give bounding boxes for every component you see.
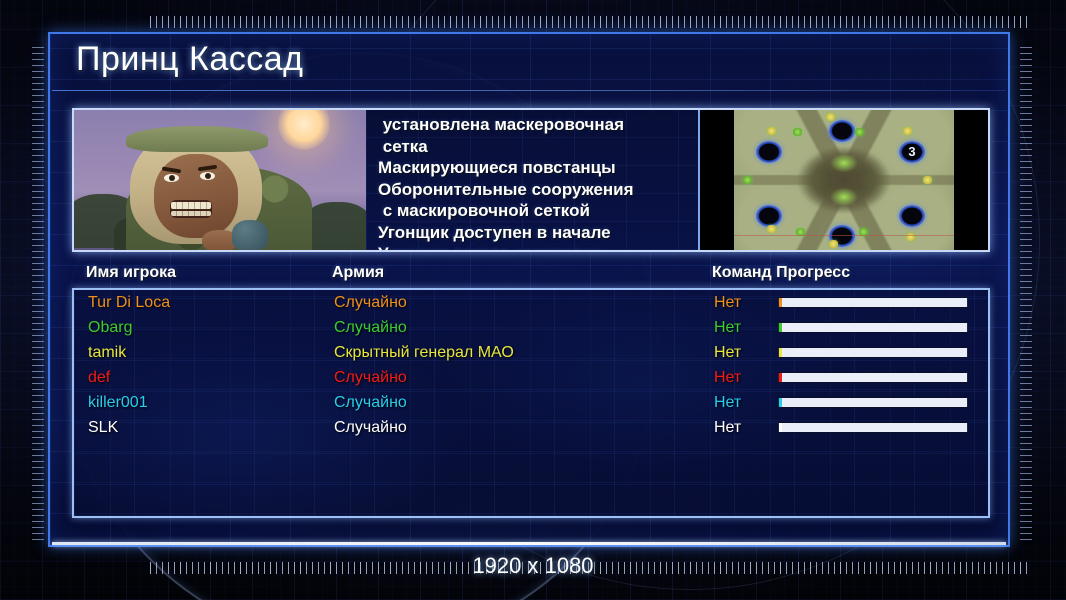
map-start-label: 3 xyxy=(908,144,915,159)
player-name: def xyxy=(88,369,110,387)
map-resource-dot xyxy=(855,128,864,136)
player-progress-bar xyxy=(778,322,968,333)
player-army[interactable]: Скрытный генерал МАО xyxy=(334,344,514,362)
player-team[interactable]: Нет xyxy=(714,344,741,362)
map-resource-dot xyxy=(826,113,835,121)
map-start-position: 3 xyxy=(899,141,925,163)
description-line: установлена маскеровочная xyxy=(378,114,692,136)
player-name: tamik xyxy=(88,344,126,362)
description-line: Оборонительные сооружения xyxy=(378,179,692,201)
portrait-eye xyxy=(164,174,179,182)
player-name: Tur Di Loca xyxy=(88,294,170,312)
player-team[interactable]: Нет xyxy=(714,369,741,387)
map-scanline xyxy=(734,235,954,236)
resolution-label: 1920 x 1080 xyxy=(0,553,1066,579)
map-resource-dot xyxy=(767,225,776,233)
map-resource-dot xyxy=(903,127,912,135)
map-terrain: 3 xyxy=(734,110,954,250)
player-table-header: Имя игрока Армия Команд Прогресс xyxy=(80,264,980,286)
player-team[interactable]: Нет xyxy=(714,319,741,337)
map-resource-dot xyxy=(829,240,838,248)
ruler-left xyxy=(32,42,44,540)
portrait-headband xyxy=(126,126,268,152)
description-line: сетка xyxy=(378,136,692,158)
general-portrait xyxy=(74,110,366,250)
portrait-eye xyxy=(200,172,215,180)
player-army[interactable]: Случайно xyxy=(334,294,407,312)
column-header-team-progress: Команд Прогресс xyxy=(712,264,850,282)
column-header-army: Армия xyxy=(332,264,384,282)
player-name: Obarg xyxy=(88,319,132,337)
player-army[interactable]: Случайно xyxy=(334,419,407,437)
description-line: Маскирующиеся повстанцы xyxy=(378,157,692,179)
player-progress-bar xyxy=(778,372,968,383)
player-army[interactable]: Случайно xyxy=(334,369,407,387)
portrait-canteen xyxy=(232,220,268,250)
player-team[interactable]: Нет xyxy=(714,394,741,412)
table-row[interactable]: Tur Di LocaСлучайноНет xyxy=(74,290,988,315)
player-team[interactable]: Нет xyxy=(714,294,741,312)
player-army[interactable]: Случайно xyxy=(334,394,407,412)
general-description: установлена маскеровочная сетка Маскирую… xyxy=(366,110,698,250)
map-resource-dot xyxy=(767,127,776,135)
portrait-mouth xyxy=(170,200,212,218)
title-divider xyxy=(52,90,1006,91)
player-progress-bar xyxy=(778,297,968,308)
player-name: SLK xyxy=(88,419,118,437)
player-progress-bar xyxy=(778,347,968,358)
table-row[interactable]: SLKСлучайноНет xyxy=(74,415,988,440)
player-progress-bar xyxy=(778,422,968,433)
column-header-name: Имя игрока xyxy=(86,264,176,282)
map-start-position xyxy=(829,120,855,142)
portrait-teeth xyxy=(171,211,211,216)
player-army[interactable]: Случайно xyxy=(334,319,407,337)
map-start-position xyxy=(756,141,782,163)
table-row[interactable]: ObargСлучайноНет xyxy=(74,315,988,340)
description-line: Угонщик всегда незаметен xyxy=(378,243,692,250)
map-resource-dot xyxy=(923,176,932,184)
general-info-box: установлена маскеровочная сетка Маскирую… xyxy=(72,108,990,252)
map-resource-dot xyxy=(743,176,752,184)
description-line: Угонщик доступен в начале xyxy=(378,222,692,244)
map-preview[interactable]: 3 xyxy=(698,110,988,250)
general-select-panel: Принц Кассад xyxy=(48,32,1010,547)
table-row[interactable]: defСлучайноНет xyxy=(74,365,988,390)
player-name: killer001 xyxy=(88,394,148,412)
player-list: Tur Di LocaСлучайноНетObargСлучайноНетta… xyxy=(72,288,990,518)
player-team[interactable]: Нет xyxy=(714,419,741,437)
map-center-resources xyxy=(823,155,865,205)
page-title: Принц Кассад xyxy=(76,40,304,79)
portrait-teeth xyxy=(171,202,211,209)
description-list: установлена маскеровочная сетка Маскирую… xyxy=(378,114,692,250)
player-progress-bar xyxy=(778,397,968,408)
player-rows: Tur Di LocaСлучайноНетObargСлучайноНетta… xyxy=(74,290,988,440)
table-row[interactable]: killer001СлучайноНет xyxy=(74,390,988,415)
table-row[interactable]: tamikСкрытный генерал МАОНет xyxy=(74,340,988,365)
description-line: с маскировочной сеткой xyxy=(378,200,692,222)
